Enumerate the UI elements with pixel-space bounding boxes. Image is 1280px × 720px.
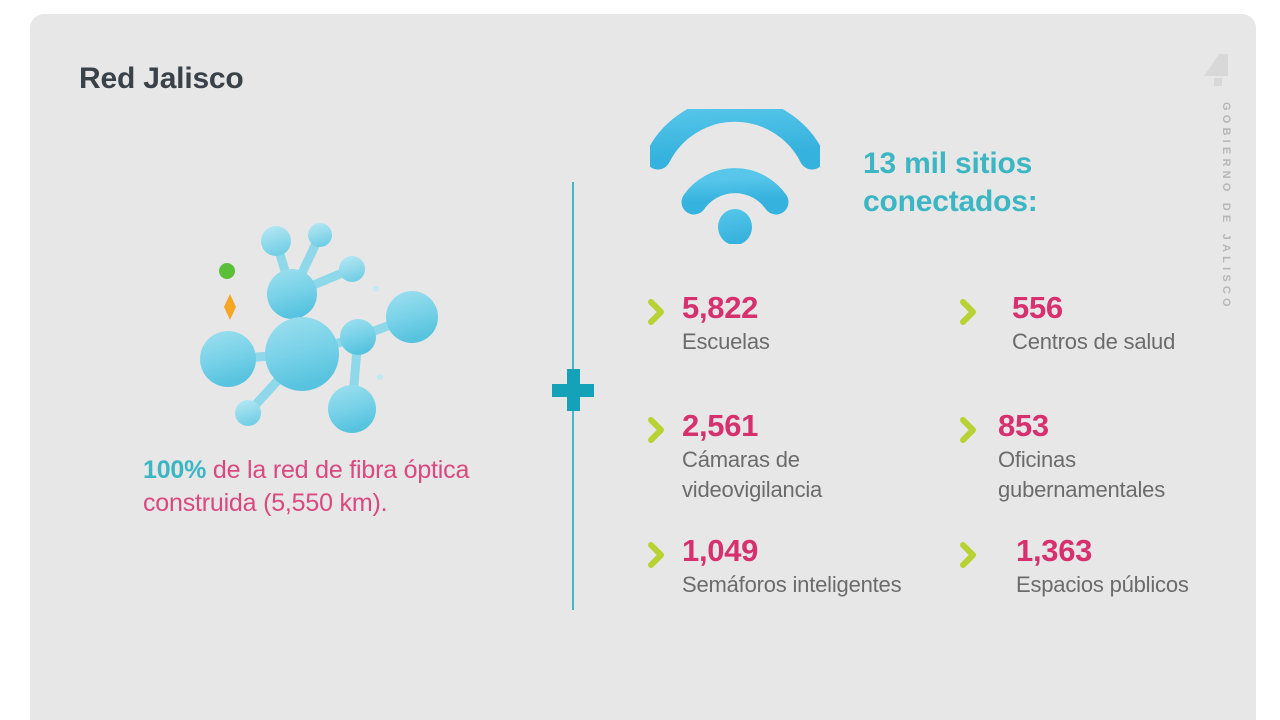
stat-item-semaforos-inteligentes: 1,049 Semáforos inteligentes [642, 535, 932, 600]
stat-label: Espacios públicos [1016, 570, 1244, 600]
stat-label: Semáforos inteligentes [682, 570, 932, 600]
chevron-right-icon [958, 298, 980, 326]
stats-grid: 5,822 Escuelas 556 Centros de salud 2,56… [642, 292, 1252, 600]
stat-item-camaras-videovigilancia: 2,561 Cámaras de videovigilancia [642, 410, 932, 535]
page-title: Red Jalisco [79, 62, 244, 96]
connected-sites-heading: 13 mil sitios conectados: [863, 145, 1183, 220]
stat-item-espacios-publicos: 1,363 Espacios públicos [954, 535, 1244, 600]
slide-card: Red Jalisco [30, 14, 1256, 720]
fiber-percent-value: 100% [143, 456, 206, 484]
stat-label: Escuelas [682, 327, 932, 357]
stat-item-oficinas-gubernamentales: 853 Oficinas gubernamentales [954, 410, 1244, 535]
fiber-optic-statement: 100% de la red de fibra óptica construid… [143, 454, 473, 519]
chevron-right-icon [958, 416, 980, 444]
stat-item-escuelas: 5,822 Escuelas [642, 292, 932, 410]
chevron-right-icon [646, 298, 668, 326]
plus-icon-vertical-bar [567, 369, 580, 411]
stat-value: 5,822 [682, 292, 932, 325]
stat-label: Oficinas gubernamentales [998, 445, 1244, 506]
jalisco-government-logo [1196, 50, 1236, 90]
stat-value: 1,049 [682, 535, 932, 568]
stat-value: 2,561 [682, 410, 932, 443]
branding-vertical-text: GOBIERNO DE JALISCO [1192, 102, 1232, 362]
chevron-right-icon [646, 541, 668, 569]
molecule-network-illustration [180, 209, 460, 449]
stat-value: 853 [998, 410, 1244, 443]
stat-value: 1,363 [1016, 535, 1244, 568]
wifi-icon [650, 109, 820, 244]
branding-rail: GOBIERNO DE JALISCO [1192, 50, 1238, 370]
chevron-right-icon [646, 416, 668, 444]
stat-label: Cámaras de videovigilancia [682, 445, 932, 506]
chevron-right-icon [958, 541, 980, 569]
slide-root: Red Jalisco [0, 0, 1280, 720]
plus-icon [552, 369, 594, 411]
